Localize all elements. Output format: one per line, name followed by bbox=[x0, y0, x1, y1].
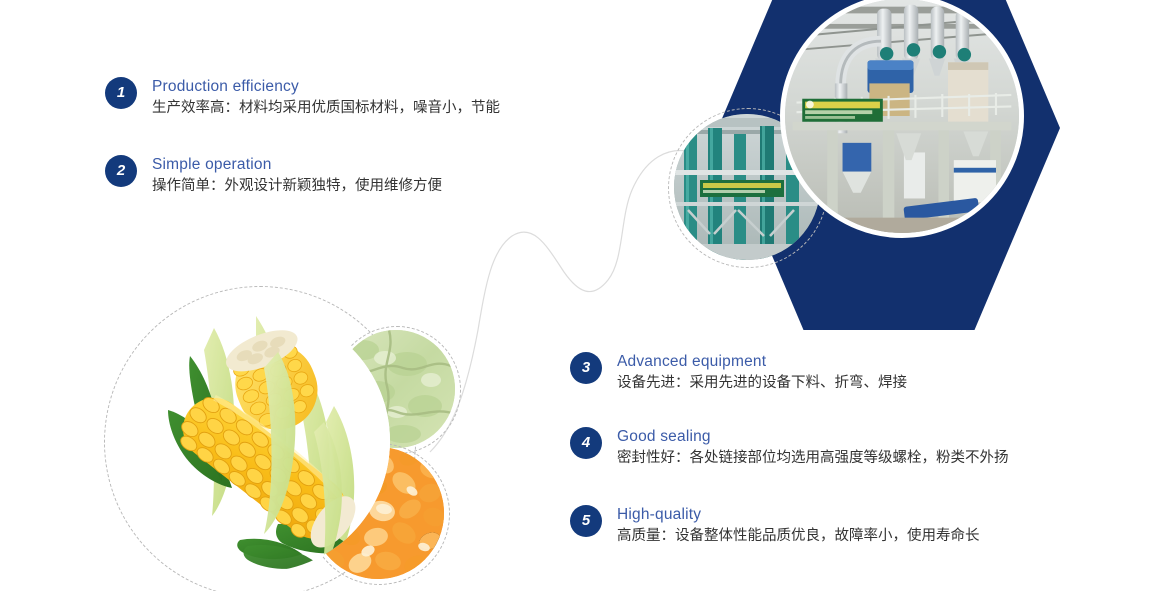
feature-item-4[interactable]: 4 Good sealing 密封性好：各处链接部位均选用高强度等级螺栓，粉类不… bbox=[570, 427, 1009, 469]
feature-badge-1: 1 bbox=[105, 77, 137, 109]
feature-title-5: High-quality bbox=[617, 505, 980, 524]
feature-desc-5: 高质量：设备整体性能品质优良，故障率小，使用寿命长 bbox=[617, 526, 980, 547]
feature-badge-4: 4 bbox=[570, 427, 602, 459]
feature-desc-3: 设备先进：采用先进的设备下料、折弯、焊接 bbox=[617, 373, 907, 394]
feature-badge-2: 2 bbox=[105, 155, 137, 187]
fresh-corn-cob-illustration bbox=[128, 310, 390, 572]
feature-badge-3: 3 bbox=[570, 352, 602, 384]
feature-desc-4: 密封性好：各处链接部位均选用高强度等级螺栓，粉类不外扬 bbox=[617, 448, 1009, 469]
feature-text-4: Good sealing 密封性好：各处链接部位均选用高强度等级螺栓，粉类不外扬 bbox=[617, 427, 1009, 469]
feature-title-2: Simple operation bbox=[152, 155, 442, 174]
feature-item-1[interactable]: 1 Production efficiency 生产效率高：材料均采用优质国标材… bbox=[105, 77, 500, 119]
promo-feature-panel: 1 Production efficiency 生产效率高：材料均采用优质国标材… bbox=[0, 0, 1154, 591]
feature-text-5: High-quality 高质量：设备整体性能品质优良，故障率小，使用寿命长 bbox=[617, 505, 980, 547]
feature-title-4: Good sealing bbox=[617, 427, 1009, 446]
main-factory-photo[interactable] bbox=[780, 0, 1024, 238]
feature-title-3: Advanced equipment bbox=[617, 352, 907, 371]
feature-badge-5: 5 bbox=[570, 505, 602, 537]
feature-text-1: Production efficiency 生产效率高：材料均采用优质国标材料，… bbox=[152, 77, 500, 119]
feature-title-1: Production efficiency bbox=[152, 77, 500, 96]
feature-text-3: Advanced equipment 设备先进：采用先进的设备下料、折弯、焊接 bbox=[617, 352, 907, 394]
feature-desc-1: 生产效率高：材料均采用优质国标材料，噪音小，节能 bbox=[152, 98, 500, 119]
feature-text-2: Simple operation 操作简单：外观设计新颖独特，使用维修方便 bbox=[152, 155, 442, 197]
corn-cob-photo[interactable] bbox=[128, 310, 390, 572]
feature-desc-2: 操作简单：外观设计新颖独特，使用维修方便 bbox=[152, 176, 442, 197]
feature-item-2[interactable]: 2 Simple operation 操作简单：外观设计新颖独特，使用维修方便 bbox=[105, 155, 442, 197]
feature-item-5[interactable]: 5 High-quality 高质量：设备整体性能品质优良，故障率小，使用寿命长 bbox=[570, 505, 980, 547]
feature-item-3[interactable]: 3 Advanced equipment 设备先进：采用先进的设备下料、折弯、焊… bbox=[570, 352, 907, 394]
flour-milling-plant-illustration bbox=[785, 0, 1019, 233]
